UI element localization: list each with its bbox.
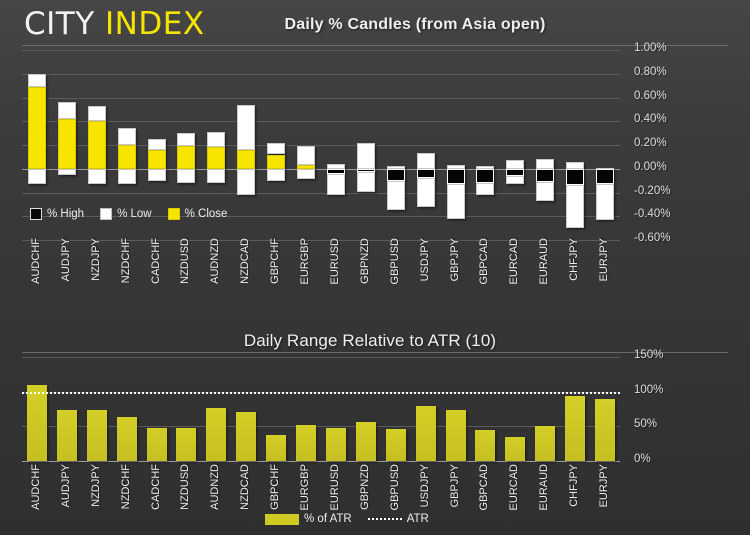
x-label-USDJPY: USDJPY xyxy=(419,238,431,281)
atr-bar-EURUSD xyxy=(326,428,346,461)
candle-low-segment xyxy=(28,169,46,184)
candle-low-segment xyxy=(596,184,614,220)
x-label-EURCAD: EURCAD xyxy=(508,464,520,510)
candle-high-segment xyxy=(28,74,46,87)
candle-high-segment xyxy=(118,128,136,145)
x-label-EURCAD: EURCAD xyxy=(508,238,520,284)
atr-bar-NZDUSD xyxy=(176,428,196,461)
y-tick-label: -0.40% xyxy=(634,208,670,220)
candle-low-segment xyxy=(148,169,166,181)
y-tick-label: 0.80% xyxy=(634,66,667,78)
y-tick-label: 0.00% xyxy=(634,161,667,173)
atr-bar-NZDCHF xyxy=(117,417,137,461)
legend-swatch-olive xyxy=(265,514,299,525)
x-label-EURAUD: EURAUD xyxy=(538,464,550,510)
candle-low-segment xyxy=(417,178,435,207)
legend-swatch-black xyxy=(30,208,42,220)
candle-low-segment xyxy=(387,181,405,211)
gridline-0.60% xyxy=(22,98,620,99)
atr-bar-EURGBP xyxy=(296,425,316,461)
gridline-50% xyxy=(22,426,620,427)
x-label-NZDUSD: NZDUSD xyxy=(179,238,191,284)
atr-bar-AUDCHF xyxy=(27,385,47,461)
atr-bar-EURJPY xyxy=(595,399,615,461)
candle-high-segment xyxy=(566,162,584,169)
brand-word-index: INDEX xyxy=(105,6,205,42)
candle-high-segment xyxy=(417,153,435,168)
x-label-NZDJPY: NZDJPY xyxy=(90,238,102,281)
candle-low-segment xyxy=(58,169,76,175)
candle-low-segment xyxy=(447,184,465,218)
gridline-0.00% xyxy=(22,169,620,170)
x-label-CADCHF: CADCHF xyxy=(150,464,162,510)
x-label-NZDCAD: NZDCAD xyxy=(239,238,251,284)
candle-low-segment xyxy=(566,185,584,228)
y-tick-label: 0.60% xyxy=(634,90,667,102)
x-label-EURAUD: EURAUD xyxy=(538,238,550,284)
candle-close-segment xyxy=(387,169,405,181)
candle-close-segment xyxy=(118,145,136,169)
legend-swatch-yellow xyxy=(168,208,180,220)
candle-GBPJPY xyxy=(447,50,465,240)
x-label-EURGBP: EURGBP xyxy=(299,238,311,284)
candle-GBPCAD xyxy=(476,50,494,240)
candle-low-segment xyxy=(88,169,106,184)
x-label-NZDCAD: NZDCAD xyxy=(239,464,251,510)
y-tick-label: 1.00% xyxy=(634,42,667,54)
candle-close-segment xyxy=(237,150,255,169)
x-label-CHFJPY: CHFJPY xyxy=(568,464,580,507)
candle-GBPNZD xyxy=(357,50,375,240)
gridline--0.60% xyxy=(22,240,620,241)
x-label-GBPNZD: GBPNZD xyxy=(359,464,371,510)
candle-low-segment xyxy=(267,169,285,181)
x-label-NZDJPY: NZDJPY xyxy=(90,464,102,507)
brand-logo: CITY INDEX xyxy=(24,9,205,40)
atr-bar-NZDJPY xyxy=(87,410,107,461)
x-label-AUDJPY: AUDJPY xyxy=(60,464,72,507)
candle-EURUSD xyxy=(327,50,345,240)
candle-close-segment xyxy=(536,169,554,182)
legend-swatch-white xyxy=(100,208,112,220)
x-label-EURJPY: EURJPY xyxy=(598,238,610,281)
x-label-GBPUSD: GBPUSD xyxy=(389,464,401,510)
x-label-GBPUSD: GBPUSD xyxy=(389,238,401,284)
atr-bar-NZDCAD xyxy=(236,412,256,461)
candle-close-segment xyxy=(506,169,524,176)
x-label-EURGBP: EURGBP xyxy=(299,464,311,510)
candle-NZDCAD xyxy=(237,50,255,240)
gridline--0.20% xyxy=(22,193,620,194)
candle-high-segment xyxy=(58,102,76,119)
candle-low-segment xyxy=(207,169,225,183)
candle-EURJPY xyxy=(596,50,614,240)
atr-bar-GBPJPY xyxy=(446,410,466,461)
candle-high-segment xyxy=(506,160,524,168)
atr-reference-line xyxy=(22,392,620,394)
gridline-0.40% xyxy=(22,121,620,122)
y-tick-label: 150% xyxy=(634,349,663,361)
bottom-chart-legend: % of ATRATR xyxy=(265,513,429,525)
candle-close-segment xyxy=(417,169,435,179)
candle-low-segment xyxy=(237,169,255,195)
x-label-USDJPY: USDJPY xyxy=(419,464,431,507)
bottom-chart-title: Daily Range Relative to ATR (10) xyxy=(130,331,610,351)
candle-low-segment xyxy=(506,176,524,184)
x-label-GBPCAD: GBPCAD xyxy=(478,464,490,510)
atr-bar-CADCHF xyxy=(147,428,167,461)
candle-close-segment xyxy=(148,150,166,169)
header: CITY INDEX Daily % Candles (from Asia op… xyxy=(0,0,750,46)
legend-label: % of ATR xyxy=(304,513,352,525)
candle-low-segment xyxy=(327,174,345,195)
daily-percent-candles-chart: 1.00%0.80%0.60%0.40%0.20%0.00%-0.20%-0.4… xyxy=(0,46,750,331)
atr-bar-AUDNZD xyxy=(206,408,226,461)
gridline-1.00% xyxy=(22,50,620,51)
candle-close-segment xyxy=(447,169,465,184)
candle-close-segment xyxy=(596,169,614,184)
x-label-AUDCHF: AUDCHF xyxy=(30,238,42,284)
candle-high-segment xyxy=(297,146,315,165)
candle-EURCAD xyxy=(506,50,524,240)
atr-bar-GBPNZD xyxy=(356,422,376,461)
candle-close-segment xyxy=(207,147,225,168)
atr-bar-EURCAD xyxy=(505,437,525,461)
x-label-GBPCAD: GBPCAD xyxy=(478,238,490,284)
y-tick-label: 0.40% xyxy=(634,113,667,125)
x-label-CADCHF: CADCHF xyxy=(150,238,162,284)
candle-low-segment xyxy=(297,169,315,180)
candle-close-segment xyxy=(476,169,494,183)
y-tick-label: 100% xyxy=(634,384,663,396)
candle-close-segment xyxy=(58,119,76,169)
x-label-GBPJPY: GBPJPY xyxy=(449,238,461,281)
candle-high-segment xyxy=(88,106,106,121)
gridline-0.20% xyxy=(22,145,620,146)
legend-label: % Low xyxy=(117,208,152,220)
x-label-GBPCHF: GBPCHF xyxy=(269,464,281,510)
x-label-EURUSD: EURUSD xyxy=(329,238,341,284)
candle-low-segment xyxy=(536,182,554,201)
candle-high-segment xyxy=(267,143,285,155)
candle-high-segment xyxy=(148,139,166,150)
candle-EURAUD xyxy=(536,50,554,240)
x-label-GBPNZD: GBPNZD xyxy=(359,238,371,284)
atr-bar-GBPCAD xyxy=(475,430,495,461)
x-label-AUDCHF: AUDCHF xyxy=(30,464,42,510)
x-label-EURUSD: EURUSD xyxy=(329,464,341,510)
x-label-AUDNZD: AUDNZD xyxy=(209,238,221,284)
legend-label: % Close xyxy=(185,208,228,220)
x-label-AUDJPY: AUDJPY xyxy=(60,238,72,281)
candle-close-segment xyxy=(177,146,195,169)
candle-high-segment xyxy=(357,143,375,169)
x-label-NZDCHF: NZDCHF xyxy=(120,464,132,509)
legend-item-close: % Close xyxy=(168,208,228,220)
top-chart-legend: % High% Low% Close xyxy=(30,208,227,220)
atr-bar-AUDJPY xyxy=(57,410,77,461)
candle-low-segment xyxy=(118,169,136,184)
candle-high-segment xyxy=(536,159,554,169)
legend-item-ofatr: % of ATR xyxy=(265,513,352,525)
y-tick-label: 0% xyxy=(634,453,651,465)
gridline-150% xyxy=(22,357,620,358)
y-tick-label: 50% xyxy=(634,418,657,430)
atr-bar-GBPUSD xyxy=(386,429,406,461)
candle-low-segment xyxy=(476,183,494,195)
bottom-chart-plot-area: 150%100%50%0% xyxy=(22,357,620,461)
legend-swatch-dotline xyxy=(368,518,402,520)
gridline-0% xyxy=(22,461,620,462)
x-label-GBPCHF: GBPCHF xyxy=(269,238,281,284)
candle-GBPCHF xyxy=(267,50,285,240)
brand-word-city: CITY xyxy=(24,6,95,42)
y-tick-label: -0.20% xyxy=(634,185,670,197)
x-label-GBPJPY: GBPJPY xyxy=(449,464,461,507)
x-label-CHFJPY: CHFJPY xyxy=(568,238,580,281)
candle-close-segment xyxy=(28,87,46,169)
x-label-NZDCHF: NZDCHF xyxy=(120,238,132,283)
y-tick-label: -0.60% xyxy=(634,232,670,244)
candle-GBPUSD xyxy=(387,50,405,240)
candle-low-segment xyxy=(357,172,375,192)
legend-item-high: % High xyxy=(30,208,84,220)
candle-close-segment xyxy=(88,121,106,169)
atr-bar-GBPCHF xyxy=(266,435,286,461)
candle-low-segment xyxy=(177,169,195,183)
legend-item-low: % Low xyxy=(100,208,152,220)
x-label-NZDUSD: NZDUSD xyxy=(179,464,191,510)
atr-bar-USDJPY xyxy=(416,406,436,462)
legend-label: ATR xyxy=(407,513,429,525)
candle-high-segment xyxy=(207,132,225,147)
dashboard-root: CITY INDEX Daily % Candles (from Asia op… xyxy=(0,0,750,535)
legend-item-atr: ATR xyxy=(368,513,429,525)
atr-bar-EURAUD xyxy=(535,426,555,461)
gridline-0.80% xyxy=(22,74,620,75)
x-label-EURJPY: EURJPY xyxy=(598,464,610,507)
x-label-AUDNZD: AUDNZD xyxy=(209,464,221,510)
candle-close-segment xyxy=(267,155,285,169)
y-tick-label: 0.20% xyxy=(634,137,667,149)
atr-bar-CHFJPY xyxy=(565,396,585,461)
candle-USDJPY xyxy=(417,50,435,240)
candle-high-segment xyxy=(237,105,255,150)
candle-high-segment xyxy=(177,133,195,146)
legend-label: % High xyxy=(47,208,84,220)
candle-EURGBP xyxy=(297,50,315,240)
top-chart-title: Daily % Candles (from Asia open) xyxy=(205,16,625,34)
candle-close-segment xyxy=(566,169,584,186)
candle-CHFJPY xyxy=(566,50,584,240)
daily-range-atr-chart: 150%100%50%0% % of ATRATR AUDCHFAUDJPYNZ… xyxy=(0,353,750,535)
